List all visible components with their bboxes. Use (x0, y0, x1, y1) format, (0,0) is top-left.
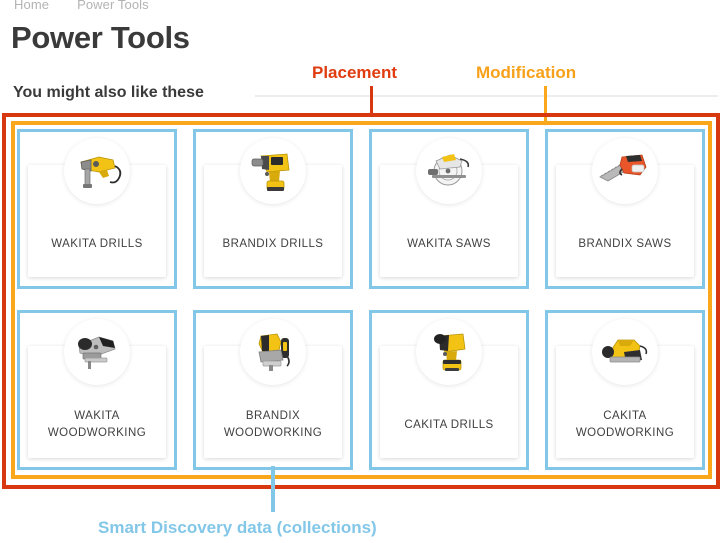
jigsaw-icon (64, 319, 130, 385)
annotation-leader-discovery (271, 466, 275, 512)
product-card[interactable]: CAKITA DRILLS (369, 310, 529, 470)
product-card[interactable]: CAKITA WOODWORKING (545, 310, 705, 470)
section-subtitle: You might also like these (13, 84, 204, 102)
product-card[interactable]: BRANDIX SAWS (545, 129, 705, 289)
impact-driver-icon (416, 319, 482, 385)
product-label: WAKITA SAWS (407, 236, 491, 253)
annotation-leader-placement (370, 86, 373, 116)
page-title: Power Tools (11, 20, 190, 56)
breadcrumb-item-home[interactable]: Home (14, 0, 49, 12)
product-label: BRANDIX WOODWORKING (224, 408, 322, 441)
product-label: BRANDIX DRILLS (223, 236, 324, 253)
breadcrumb-item-power-tools[interactable]: Power Tools (77, 0, 149, 12)
product-label: WAKITA WOODWORKING (48, 408, 146, 441)
power-planer-icon (592, 319, 658, 385)
product-card[interactable]: BRANDIX DRILLS (193, 129, 353, 289)
product-card[interactable]: WAKITA DRILLS (17, 129, 177, 289)
cordless-drill-icon (240, 138, 306, 204)
annotation-label-placement: Placement (312, 63, 397, 83)
product-label: CAKITA DRILLS (404, 417, 493, 434)
recommendation-grid-wrapper: WAKITA DRILLS BRANDIX DRILLS (17, 129, 707, 470)
subtitle-divider (255, 95, 718, 97)
product-card[interactable]: WAKITA WOODWORKING (17, 310, 177, 470)
product-label: BRANDIX SAWS (578, 236, 671, 253)
circular-saw-icon (416, 138, 482, 204)
hammer-drill-icon (64, 138, 130, 204)
product-card[interactable]: WAKITA SAWS (369, 129, 529, 289)
chainsaw-icon (592, 138, 658, 204)
product-label: WAKITA DRILLS (51, 236, 142, 253)
annotation-label-discovery: Smart Discovery data (collections) (98, 518, 377, 538)
product-label: CAKITA WOODWORKING (576, 408, 674, 441)
product-card[interactable]: BRANDIX WOODWORKING (193, 310, 353, 470)
recommendation-grid: WAKITA DRILLS BRANDIX DRILLS (17, 129, 707, 470)
router-tool-icon (240, 319, 306, 385)
annotation-label-modification: Modification (476, 63, 576, 83)
breadcrumb: Home Power Tools (14, 0, 149, 12)
